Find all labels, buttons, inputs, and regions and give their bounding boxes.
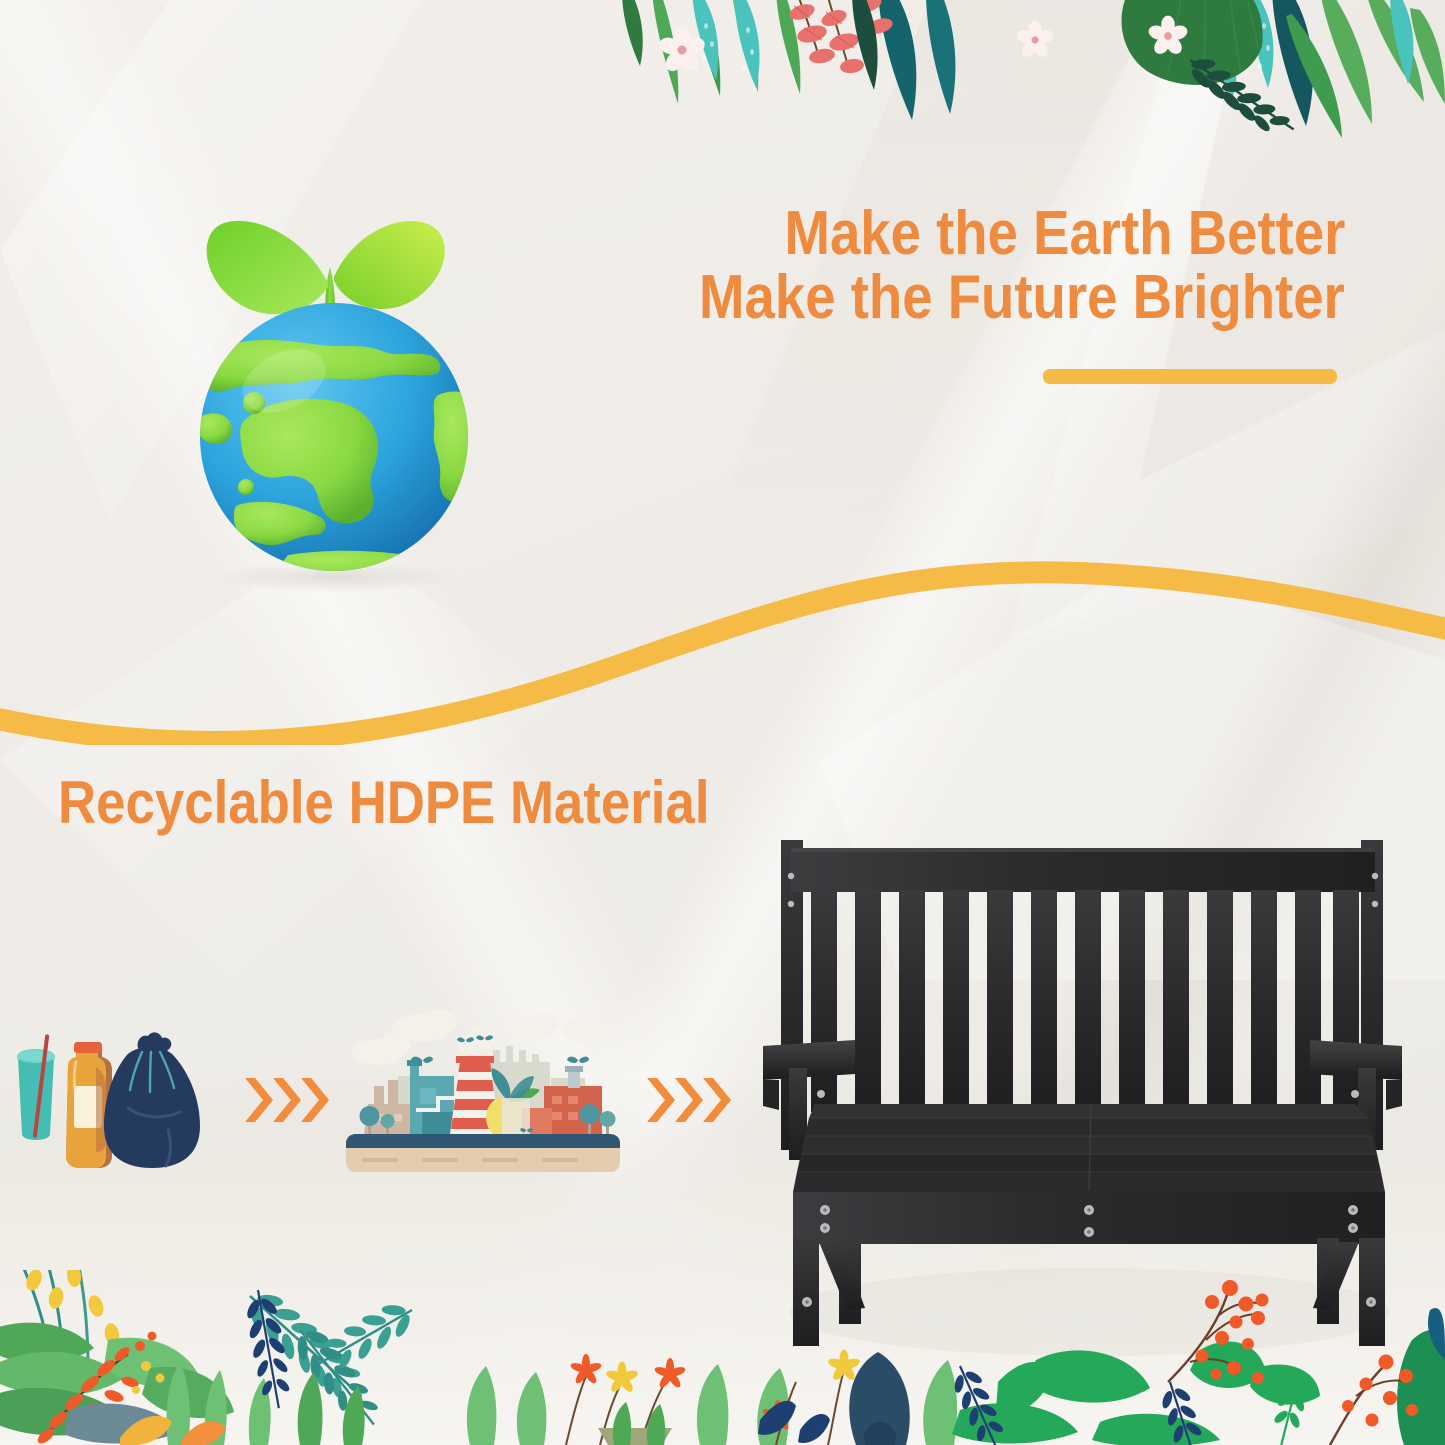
sprout-leaf-right xyxy=(334,221,445,309)
headline-line-1: Make the Earth Better xyxy=(784,198,1345,269)
bottom-foliage-decoration xyxy=(0,1270,1445,1445)
subheadline-wrapper: Recyclable HDPE Material xyxy=(58,768,798,837)
trash-bag-icon xyxy=(104,1032,200,1168)
garden-bench-product xyxy=(755,818,1410,1348)
yellow-flower-group xyxy=(605,1350,861,1394)
bench-seat-slats xyxy=(793,1104,1385,1192)
subheadline-text: Recyclable HDPE Material xyxy=(58,768,710,837)
top-foliage-decoration xyxy=(0,0,1445,140)
bench-back-slats xyxy=(811,890,1359,1112)
chevron-right-icon-group-2 xyxy=(645,1072,735,1128)
headline-line-2: Make the Future Brighter xyxy=(699,262,1345,333)
earth-globe-icon xyxy=(138,205,528,595)
bench-top-rail xyxy=(791,848,1375,892)
drink-cup-icon xyxy=(17,1034,55,1140)
white-flower-group xyxy=(657,16,1189,75)
accent-underline-bar xyxy=(1043,369,1337,384)
sprout-leaf-left xyxy=(207,221,328,314)
product-marketing-banner: Make the Earth Better Make the Future Br… xyxy=(0,0,1445,1445)
plastic-waste-icon-group xyxy=(8,1000,248,1190)
bottlebrush-flower-group xyxy=(787,0,894,75)
chevron-right-icon-group-1 xyxy=(243,1072,333,1128)
eco-factory-icon xyxy=(338,1000,628,1190)
plastic-jug-icon xyxy=(66,1042,112,1168)
